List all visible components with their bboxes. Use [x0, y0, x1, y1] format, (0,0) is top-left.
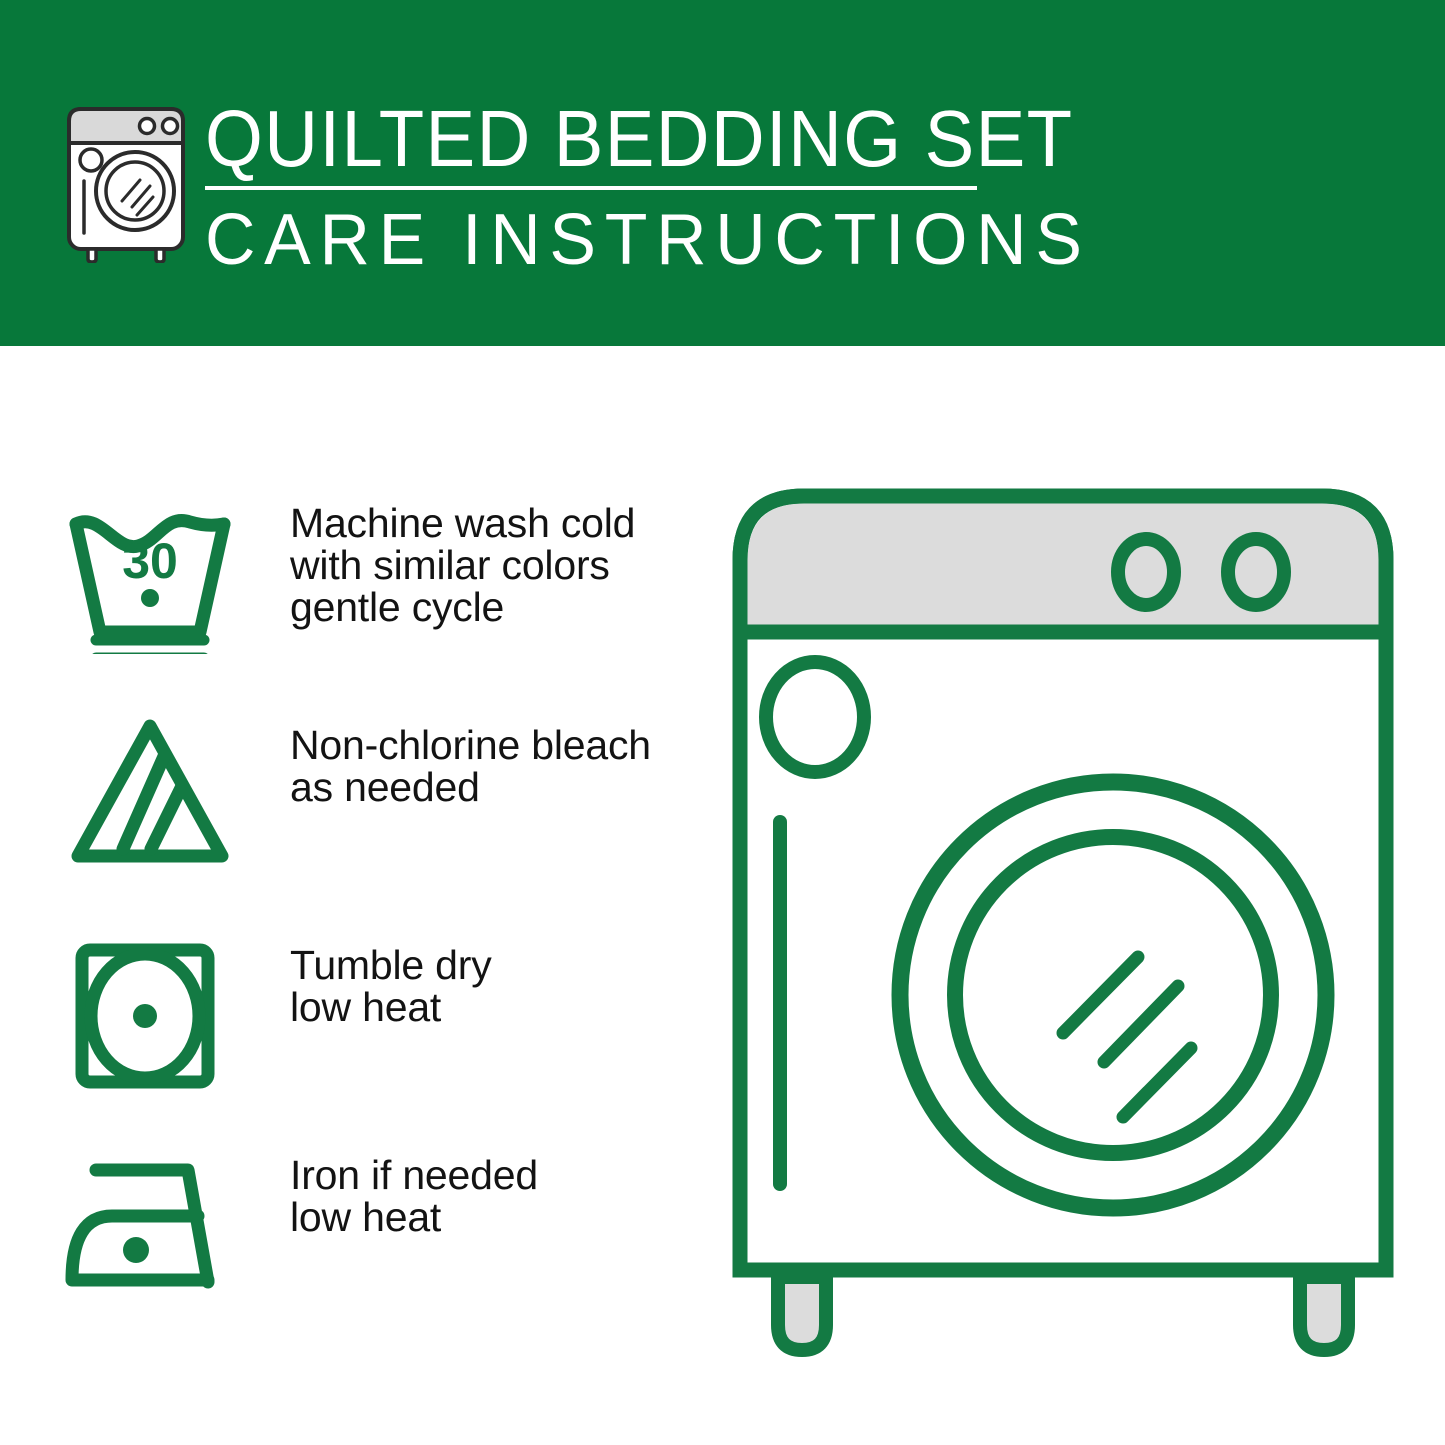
care-text-line: Machine wash cold [290, 502, 635, 544]
leg-right [1300, 1277, 1348, 1350]
care-instruction-list: 30 Machine wash cold with similar colors… [0, 346, 700, 1445]
wash-temperature-value: 30 [122, 533, 178, 589]
care-text-line: Non-chlorine bleach [290, 724, 651, 766]
leg-left [778, 1277, 826, 1350]
page-title: QUILTED BEDDING SET [205, 98, 940, 180]
care-instructions-page: QUILTED BEDDING SET CARE INSTRUCTIONS 30 [0, 0, 1445, 1445]
front-load-washing-machine-illustration [718, 470, 1408, 1370]
iron-low-heat-icon [62, 1146, 238, 1306]
care-instruction-item: 30 Machine wash cold with similar colors… [0, 494, 700, 654]
care-instruction-text: Machine wash cold with similar colors ge… [290, 494, 635, 628]
care-instruction-text: Tumble dry low heat [290, 936, 492, 1028]
knob-right [1228, 539, 1284, 605]
header-banner: QUILTED BEDDING SET CARE INSTRUCTIONS [0, 0, 1445, 346]
tumble-dry-low-heat-icon [62, 936, 238, 1096]
page-subtitle: CARE INSTRUCTIONS [205, 202, 1091, 278]
title-divider [205, 186, 977, 190]
care-text-line: Iron if needed [290, 1154, 538, 1196]
care-text-line: gentle cycle [290, 586, 635, 628]
care-instruction-item: Tumble dry low heat [0, 936, 700, 1096]
care-text-line: low heat [290, 986, 492, 1028]
care-instruction-item: Iron if needed low heat [0, 1146, 700, 1306]
care-instruction-item: Non-chlorine bleach as needed [0, 716, 700, 876]
knob-left [1118, 539, 1174, 605]
care-text-line: low heat [290, 1196, 538, 1238]
care-instruction-text: Iron if needed low heat [290, 1146, 538, 1238]
care-text-line: with similar colors [290, 544, 635, 586]
non-chlorine-bleach-triangle-icon [62, 716, 238, 876]
care-text-line: Tumble dry [290, 944, 492, 986]
door-inner-ring [955, 837, 1271, 1153]
washing-machine-icon [62, 103, 190, 263]
care-text-line: as needed [290, 766, 651, 808]
header-text-block: QUILTED BEDDING SET CARE INSTRUCTIONS [205, 98, 995, 180]
care-instruction-text: Non-chlorine bleach as needed [290, 716, 651, 808]
detergent-indicator [766, 662, 864, 772]
wash-tub-30-gentle-icon: 30 [62, 494, 238, 654]
